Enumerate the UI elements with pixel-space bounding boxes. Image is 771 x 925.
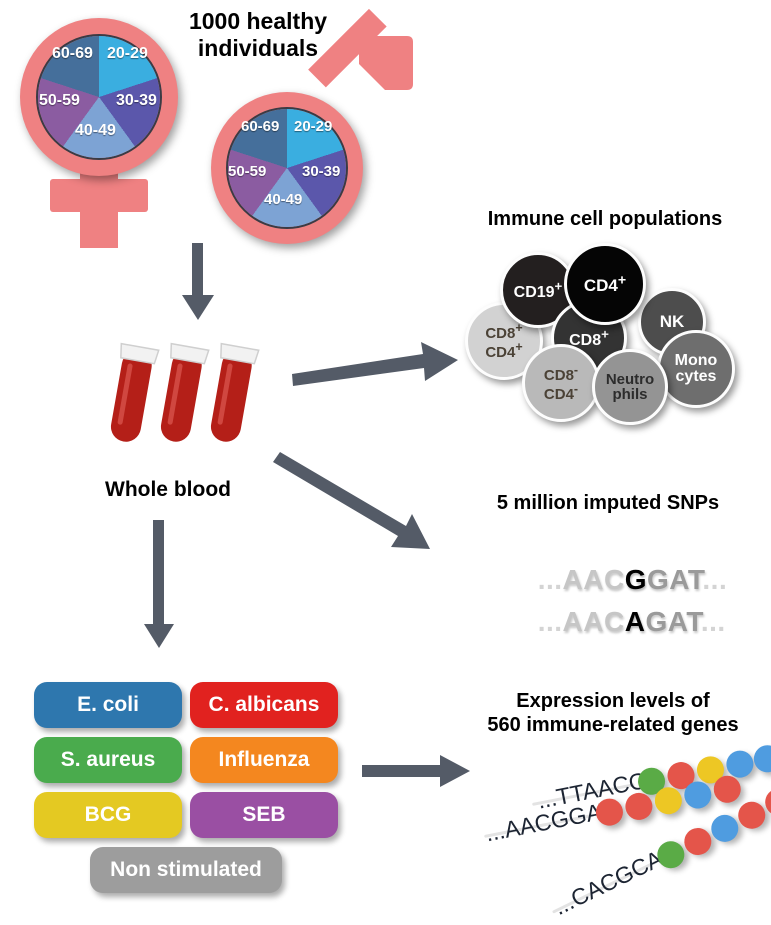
strand-bead <box>623 791 655 823</box>
snp-variant-allele: A <box>625 606 646 637</box>
arrow-blood-to-snps <box>278 448 448 553</box>
stimulation-label: Influenza <box>218 748 309 772</box>
immune-cell-monocytes: Monocytes <box>657 330 735 408</box>
snp-sequence-row: ...AACAGAT... <box>488 574 726 670</box>
immune-cell-label: CD4+ <box>584 276 626 295</box>
stimulation-box-e-coli[interactable]: E. coli <box>34 682 182 728</box>
stimulation-label: SEB <box>242 803 285 827</box>
stimulation-label: S. aureus <box>61 748 156 772</box>
stimulation-label: C. albicans <box>209 693 320 717</box>
immune-cell-label: CD19+ <box>514 284 563 301</box>
snp-leading-dots: ... <box>538 606 563 637</box>
whole-blood-label: Whole blood <box>88 478 248 503</box>
strand-bead <box>752 743 771 775</box>
snp-sequences: ...AACGGAT... ...AACAGAT... <box>488 530 738 620</box>
immune-cell-label: Monocytes <box>675 352 718 385</box>
expression-heading-line1: Expression levels of <box>458 690 768 714</box>
snp-heading: 5 million imputed SNPs <box>458 492 758 516</box>
immune-cell-label: CD8+CD4+ <box>485 325 522 361</box>
stimulation-box-influenza[interactable]: Influenza <box>190 737 338 783</box>
snp-prefix: AAC <box>563 606 625 637</box>
expression-heading-line2: 560 immune-related genes <box>458 714 768 738</box>
immune-cell-cluster: CD8+CD4+ NK CD19+ CD8+ CD4+ Monocytes CD… <box>0 0 771 430</box>
figure-canvas: 1000 healthy individuals 20-29 30-39 40-… <box>0 0 771 922</box>
stimulation-box-bcg[interactable]: BCG <box>34 792 182 838</box>
immune-cell-label: CD8-CD4- <box>544 367 578 403</box>
stimulation-panel: E. coli C. albicans S. aureus Influenza … <box>34 682 334 894</box>
immune-cell-neutrophils: Neutrophils <box>592 349 668 425</box>
stimulation-box-non-stimulated[interactable]: Non stimulated <box>90 847 282 893</box>
snp-suffix: GAT <box>645 606 700 637</box>
expression-strands: ...TTAACGG ...AACGGAT ...CACGCAA <box>440 745 771 922</box>
arrow-blood-to-stimulation <box>140 520 180 650</box>
immune-cell-label: Neutrophils <box>606 371 654 403</box>
snp-trailing-dots: ... <box>701 606 726 637</box>
stimulation-box-s-aureus[interactable]: S. aureus <box>34 737 182 783</box>
strand-bead <box>682 779 714 811</box>
immune-cell-cd8minus-cd4minus: CD8-CD4- <box>522 344 600 422</box>
immune-cell-label: NK <box>660 312 685 331</box>
stimulation-label: Non stimulated <box>110 858 262 882</box>
immune-cell-cd4plus: CD4+ <box>564 243 646 325</box>
stimulation-box-seb[interactable]: SEB <box>190 792 338 838</box>
stimulation-box-c-albicans[interactable]: C. albicans <box>190 682 338 728</box>
strand-bead <box>653 785 685 817</box>
stimulation-label: E. coli <box>77 693 139 717</box>
expression-heading: Expression levels of 560 immune-related … <box>458 690 768 737</box>
stimulation-label: BCG <box>85 803 132 827</box>
